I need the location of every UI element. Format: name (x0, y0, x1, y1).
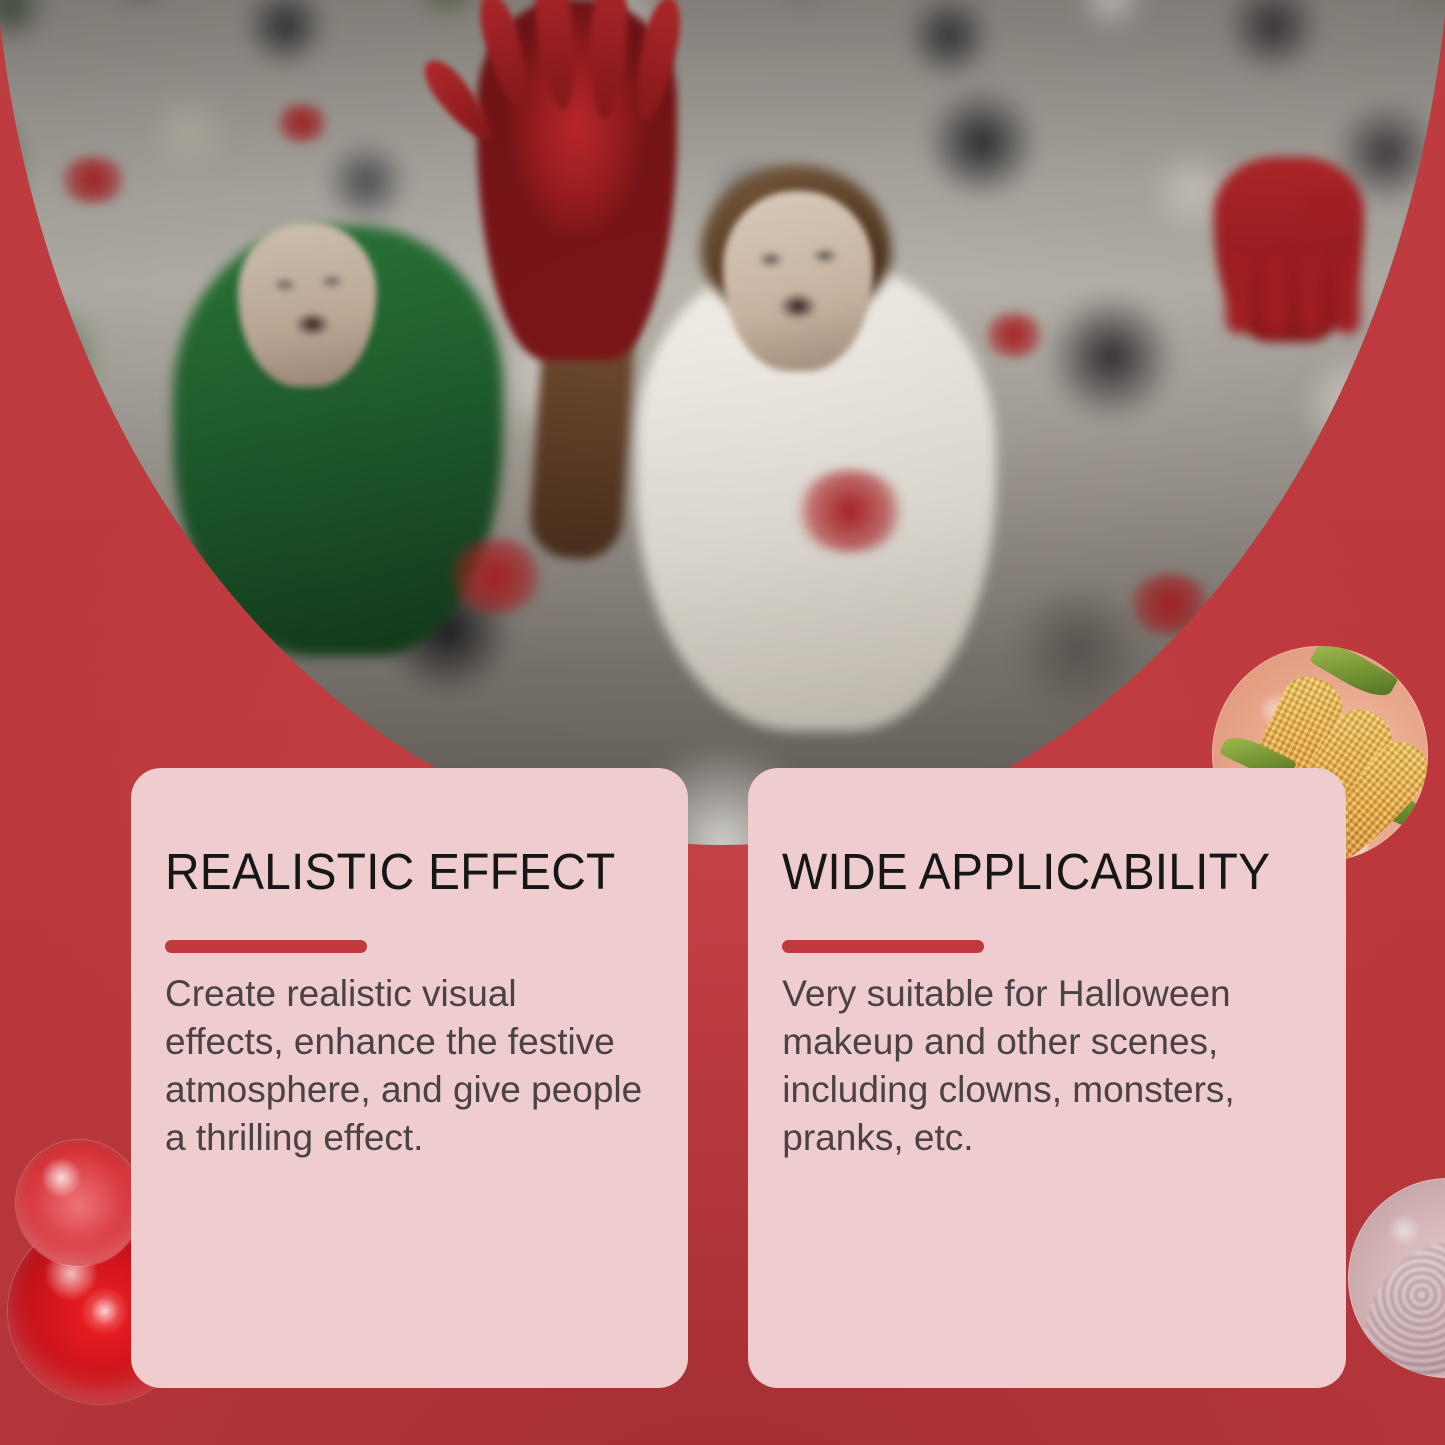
feature-card-body: Create realistic visual effects, enhance… (165, 970, 644, 1162)
feature-card-body: Very suitable for Halloween makeup and o… (782, 970, 1301, 1162)
feature-card-accent-bar (165, 940, 367, 953)
feature-card-accent-bar (782, 940, 984, 953)
feature-card-title: WIDE APPLICABILITY (782, 846, 1270, 898)
feature-card-title: REALISTIC EFFECT (165, 846, 616, 898)
feature-card-list: REALISTIC EFFECT Create realistic visual… (131, 768, 1314, 1388)
feature-card-realistic-effect: REALISTIC EFFECT Create realistic visual… (131, 768, 688, 1388)
feature-card-wide-applicability: WIDE APPLICABILITY Very suitable for Hal… (748, 768, 1345, 1388)
product-feature-poster: REALISTIC EFFECT Create realistic visual… (0, 0, 1445, 1445)
